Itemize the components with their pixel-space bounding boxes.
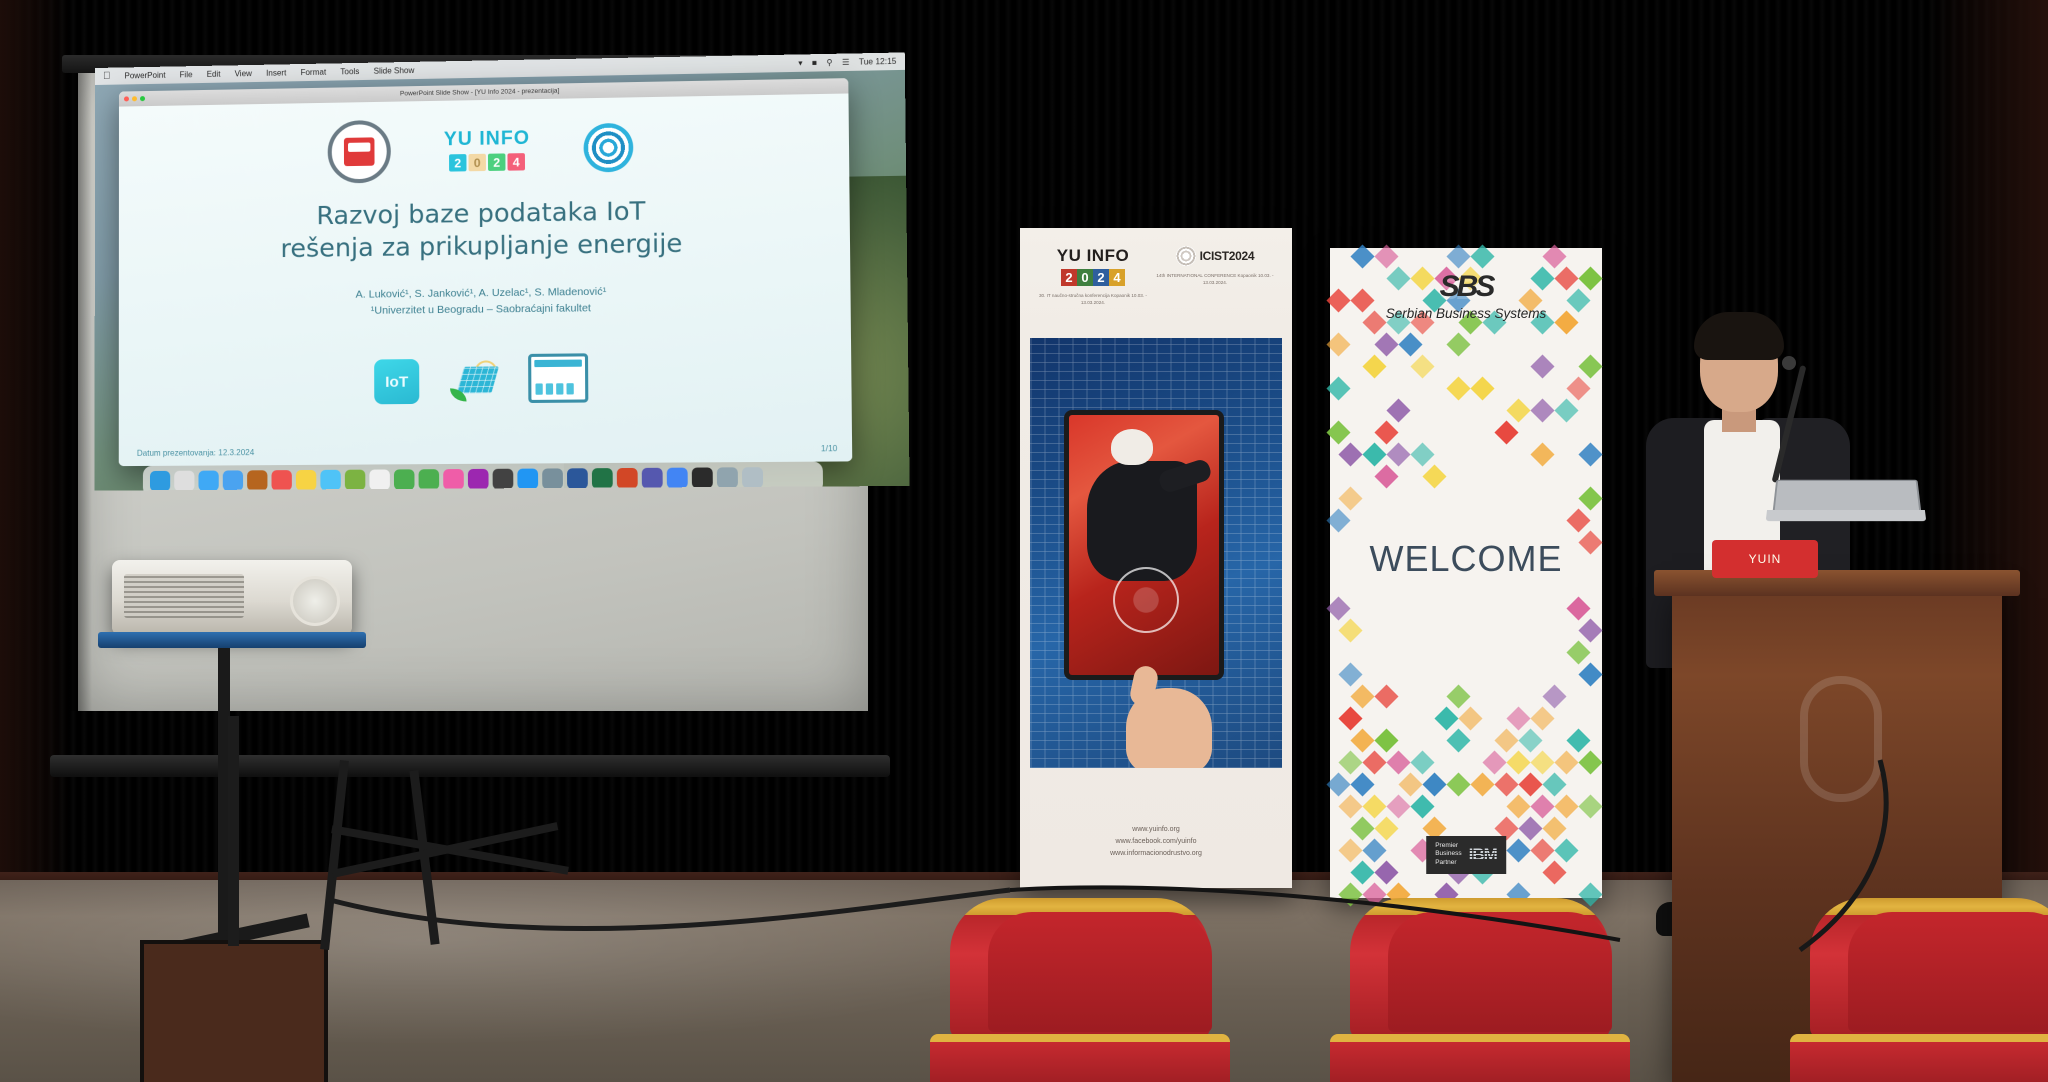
banner-icist-logo: ICIST2024 14th INTERNATIONAL CONFERENCE … — [1152, 246, 1278, 287]
iot-icon: IoT — [374, 359, 419, 404]
calendar-icon[interactable] — [271, 470, 291, 490]
partner-line-2: Business — [1435, 850, 1461, 859]
diamond-tile — [1410, 354, 1434, 378]
diamond-tile — [1362, 838, 1386, 862]
projector-device — [112, 560, 352, 635]
diamond-tile — [1578, 486, 1602, 510]
diamond-tile — [1578, 354, 1602, 378]
lectern-top-surface — [1654, 570, 2020, 596]
diamond-tile — [1458, 706, 1482, 730]
diamond-tile — [1506, 398, 1530, 422]
banner-header: YU INFO 2 0 2 4 30. IT naučno-stručna ko… — [1020, 246, 1292, 307]
diamond-tile — [1566, 508, 1590, 532]
menubar-item-2[interactable]: View — [235, 69, 252, 78]
apple-icon[interactable]:  — [103, 71, 111, 82]
menubar-item-6[interactable]: Slide Show — [374, 66, 415, 76]
diamond-tile — [1350, 860, 1374, 884]
downloads-icon[interactable] — [717, 467, 738, 488]
minimize-icon[interactable] — [132, 96, 137, 101]
diamond-tile — [1566, 728, 1590, 752]
diamond-tile — [1410, 750, 1434, 774]
battery-icon[interactable]: ■ — [812, 58, 817, 67]
diamond-tile — [1530, 750, 1554, 774]
banner-digit-0: 2 — [1061, 269, 1077, 286]
banner-yuinfo-logo: YU INFO 2 0 2 4 30. IT naučno-stručna ko… — [1034, 246, 1152, 307]
diamond-tile — [1470, 376, 1494, 400]
diamond-tile — [1326, 420, 1350, 444]
icist-spiral-logo-icon — [583, 123, 633, 173]
diamond-tile — [1362, 750, 1386, 774]
menubar-item-5[interactable]: Tools — [340, 67, 359, 76]
diamond-tile — [1554, 750, 1578, 774]
diamond-tile — [1338, 486, 1362, 510]
diamond-tile — [1554, 794, 1578, 818]
diamond-tile — [1578, 662, 1602, 686]
yuinfo-digit-3: 4 — [507, 153, 525, 171]
projector-lens — [290, 576, 340, 626]
menubar-item-3[interactable]: Insert — [266, 68, 286, 77]
control-center-icon[interactable]: ☰ — [842, 58, 850, 67]
diamond-tile — [1386, 750, 1410, 774]
banner-url-0: www.yuinfo.org — [1020, 824, 1292, 836]
chair-1 — [930, 898, 1230, 1082]
solar-panel-icon — [450, 360, 498, 403]
menubar-item-1[interactable]: Edit — [207, 70, 221, 79]
diamond-tile — [1494, 420, 1518, 444]
diamond-tile — [1326, 596, 1350, 620]
traffic-lights[interactable] — [124, 96, 145, 101]
powerpoint-window[interactable]: PowerPoint Slide Show - [YU Info 2024 - … — [119, 78, 853, 466]
diamond-tile — [1542, 684, 1566, 708]
diamond-tile — [1470, 244, 1494, 268]
diamond-tile — [1566, 640, 1590, 664]
diamond-tile — [1350, 244, 1374, 268]
diamond-tile — [1482, 750, 1506, 774]
diamond-tile — [1530, 354, 1554, 378]
yuinfo-logo: YU INFO 2 0 2 4 — [444, 128, 530, 172]
diamond-tile — [1470, 772, 1494, 796]
chair-2 — [1330, 898, 1630, 1082]
yuinfo-digit-1: 0 — [468, 154, 486, 172]
banner-icist-text: ICIST2024 — [1200, 249, 1255, 263]
banner-digit-1: 0 — [1077, 269, 1093, 286]
presentation-slide: YU INFO 2 0 2 4 Razvoj baze podataka IoT… — [119, 93, 853, 466]
diamond-tile — [1578, 442, 1602, 466]
banner-digit-2: 2 — [1093, 269, 1109, 286]
sbs-company-name: Serbian Business Systems — [1330, 306, 1602, 321]
slide-footer: Datum prezentovanja: 12.3.2024 1/10 — [137, 444, 838, 458]
saobracajni-fakultet-logo-icon — [328, 120, 391, 184]
diamond-tile — [1374, 420, 1398, 444]
diamond-tile — [1338, 618, 1362, 642]
sbs-header: SBS Serbian Business Systems — [1330, 270, 1602, 321]
diamond-tile — [1338, 662, 1362, 686]
diamond-tile — [1362, 442, 1386, 466]
welcome-text: WELCOME — [1330, 538, 1602, 580]
diamond-tile — [1518, 816, 1542, 840]
banner-digit-3: 4 — [1109, 269, 1125, 286]
icist-snowflake-icon — [1176, 246, 1196, 266]
maps-icon[interactable] — [345, 470, 366, 491]
diamond-tile — [1530, 838, 1554, 862]
diamond-tile — [1566, 376, 1590, 400]
partner-line-3: Partner — [1435, 859, 1461, 868]
photos-icon[interactable] — [369, 469, 390, 490]
mail-icon[interactable] — [223, 470, 243, 490]
slide-title: Razvoj baze podataka IoT rešenja za prik… — [119, 192, 850, 267]
conference-room-scene:  PowerPoint File Edit View Insert Forma… — [0, 0, 2048, 1082]
projector-stand-base — [140, 940, 328, 1082]
reminders-icon[interactable] — [320, 470, 340, 491]
system-settings-icon[interactable] — [542, 468, 563, 489]
appstore-icon[interactable] — [517, 469, 538, 490]
diamond-tile — [1374, 244, 1398, 268]
slide-icon-row: IoT — [119, 351, 852, 407]
diamond-tile — [1386, 442, 1410, 466]
diamond-tile — [1518, 772, 1542, 796]
diamond-tile — [1350, 684, 1374, 708]
diamond-tile — [1386, 794, 1410, 818]
diamond-tile — [1386, 398, 1410, 422]
diamond-tile — [1350, 772, 1374, 796]
diamond-tile — [1338, 794, 1362, 818]
finder-icon[interactable] — [150, 471, 170, 491]
ibm-partner-badge: Premier Business Partner IBM — [1426, 836, 1506, 874]
diamond-tile — [1338, 706, 1362, 730]
banner-icist-subtitle: 14th INTERNATIONAL CONFERENCE Kopaonik 1… — [1152, 273, 1278, 287]
projector-vents — [124, 574, 244, 618]
diamond-tile — [1542, 860, 1566, 884]
yuinfo-digit-2: 2 — [488, 153, 506, 171]
banner-yuinfo-year: 2 0 2 4 — [1061, 269, 1125, 286]
diamond-tile — [1446, 772, 1470, 796]
diamond-tile — [1398, 332, 1422, 356]
sbs-rollup-banner: SBS Serbian Business Systems WELCOME Pre… — [1330, 248, 1602, 898]
diamond-tile — [1398, 772, 1422, 796]
banner-yuinfo-subtitle: 30. IT naučno-stručna konferencija Kopao… — [1034, 293, 1152, 307]
diamond-tile — [1554, 838, 1578, 862]
diamond-tile — [1566, 596, 1590, 620]
screen-tripod-pole — [228, 716, 239, 946]
diamond-tile — [1410, 794, 1434, 818]
diamond-tile — [1410, 442, 1434, 466]
diamond-tile — [1542, 244, 1566, 268]
diamond-tile — [1326, 508, 1350, 532]
presenter-hair — [1694, 312, 1784, 360]
close-icon[interactable] — [124, 96, 129, 101]
music-icon[interactable] — [443, 469, 464, 490]
diamond-tile — [1446, 376, 1470, 400]
diamond-tile — [1422, 464, 1446, 488]
diamond-tile — [1578, 618, 1602, 642]
tablet-in-photo — [1064, 410, 1224, 680]
diamond-tile — [1530, 398, 1554, 422]
diamond-tile — [1374, 816, 1398, 840]
diamond-tile — [1554, 398, 1578, 422]
chrome-icon[interactable] — [667, 468, 688, 489]
diamond-tile — [1422, 772, 1446, 796]
diamond-tile — [1530, 794, 1554, 818]
podcasts-icon[interactable] — [468, 469, 489, 490]
search-icon[interactable]: ⚲ — [826, 58, 832, 67]
diamond-tile — [1326, 332, 1350, 356]
powerpoint-icon[interactable] — [617, 468, 638, 489]
menubar-item-4[interactable]: Format — [300, 68, 326, 78]
diamond-tile — [1350, 816, 1374, 840]
diamond-tile — [1338, 750, 1362, 774]
hud-circle-overlay — [1113, 567, 1179, 633]
diamond-tile — [1326, 376, 1350, 400]
skier-helmet — [1111, 429, 1153, 465]
ibm-logo-icon: IBM — [1469, 845, 1497, 865]
wifi-icon[interactable]: ▾ — [798, 58, 802, 67]
diamond-tile — [1494, 728, 1518, 752]
banner-yuinfo-wordmark: YU INFO — [1057, 246, 1129, 266]
safari-icon[interactable] — [198, 471, 218, 491]
diamond-tile — [1374, 728, 1398, 752]
slide-page-number: 1/10 — [821, 444, 837, 453]
diamond-tile — [1542, 772, 1566, 796]
teams-icon[interactable] — [642, 468, 663, 489]
maximize-icon[interactable] — [140, 96, 145, 101]
slide-authors-block: A. Luković¹, S. Janković¹, A. Uzelac¹, S… — [119, 281, 851, 323]
facetime-icon[interactable] — [419, 469, 440, 490]
diamond-tile — [1518, 728, 1542, 752]
diamond-tile — [1530, 442, 1554, 466]
yuinfo-digit-0: 2 — [449, 154, 466, 172]
diamond-tile — [1494, 772, 1518, 796]
chair-3 — [1790, 898, 2048, 1082]
diamond-tile — [1374, 332, 1398, 356]
diamond-tile — [1446, 332, 1470, 356]
word-icon[interactable] — [567, 468, 588, 489]
menubar-item-0[interactable]: File — [180, 70, 193, 79]
yu-info-rollup-banner: YU INFO 2 0 2 4 30. IT naučno-stručna ko… — [1020, 228, 1292, 888]
notes-icon[interactable] — [296, 470, 316, 491]
laptop-on-lectern[interactable] — [1767, 510, 1923, 562]
tv-icon[interactable] — [493, 469, 514, 490]
screen-edge-shadow — [70, 73, 92, 711]
menubar-app-name[interactable]: PowerPoint — [124, 71, 165, 81]
contacts-icon[interactable] — [247, 470, 267, 490]
pointing-hand — [1126, 688, 1212, 768]
banner-url-2: www.informacionodrustvo.org — [1020, 848, 1292, 860]
diamond-tile — [1374, 464, 1398, 488]
projected-desktop:  PowerPoint File Edit View Insert Forma… — [95, 52, 910, 490]
diamond-tile — [1446, 684, 1470, 708]
diamond-tile — [1506, 838, 1530, 862]
diamond-tile — [1530, 706, 1554, 730]
diamond-tile — [1338, 442, 1362, 466]
banner-url-1: www.facebook.com/yuinfo — [1020, 836, 1292, 848]
diamond-tile — [1374, 860, 1398, 884]
diamond-tile — [1362, 794, 1386, 818]
diamond-tile — [1506, 706, 1530, 730]
sbs-logo-icon: SBS — [1330, 270, 1602, 304]
dashboard-icon — [528, 353, 588, 403]
banner-urls: www.yuinfo.org www.facebook.com/yuinfo w… — [1020, 824, 1292, 860]
lectern-emblem — [1800, 676, 1882, 802]
diamond-tile — [1446, 728, 1470, 752]
partner-line-1: Premier — [1435, 842, 1461, 851]
launchpad-icon[interactable] — [174, 471, 194, 491]
excel-icon[interactable] — [592, 468, 613, 489]
diamond-tile — [1506, 750, 1530, 774]
diamond-tile — [1350, 728, 1374, 752]
diamond-tile — [1338, 838, 1362, 862]
yuinfo-wordmark: YU INFO — [444, 128, 530, 152]
macos-dock[interactable] — [143, 462, 823, 491]
diamond-tile — [1506, 794, 1530, 818]
diamond-tile — [1542, 816, 1566, 840]
trash-icon[interactable] — [742, 467, 763, 488]
diamond-tile — [1374, 684, 1398, 708]
diamond-tile — [1326, 772, 1350, 796]
terminal-icon[interactable] — [692, 467, 713, 488]
diamond-tile — [1446, 244, 1470, 268]
screen-bottom-bar — [50, 755, 890, 777]
projector-shelf — [98, 632, 366, 648]
diamond-tile — [1578, 794, 1602, 818]
window-title-text: PowerPoint Slide Show - [YU Info 2024 - … — [400, 87, 560, 97]
slide-logo-row: YU INFO 2 0 2 4 — [119, 112, 849, 187]
messages-icon[interactable] — [394, 469, 415, 490]
wall-seam — [1000, 0, 1003, 900]
laptop-keyboard[interactable] — [1766, 510, 1927, 521]
diamond-tile — [1578, 750, 1602, 774]
microphone-icon — [1782, 356, 1796, 370]
banner-photo — [1030, 338, 1282, 768]
menubar-clock[interactable]: Tue 12:15 — [859, 57, 897, 67]
diamond-tile — [1434, 706, 1458, 730]
yuinfo-year-blocks: 2 0 2 4 — [449, 153, 525, 171]
slide-footer-date: Datum prezentovanja: 12.3.2024 — [137, 448, 254, 458]
diamond-tile — [1362, 354, 1386, 378]
